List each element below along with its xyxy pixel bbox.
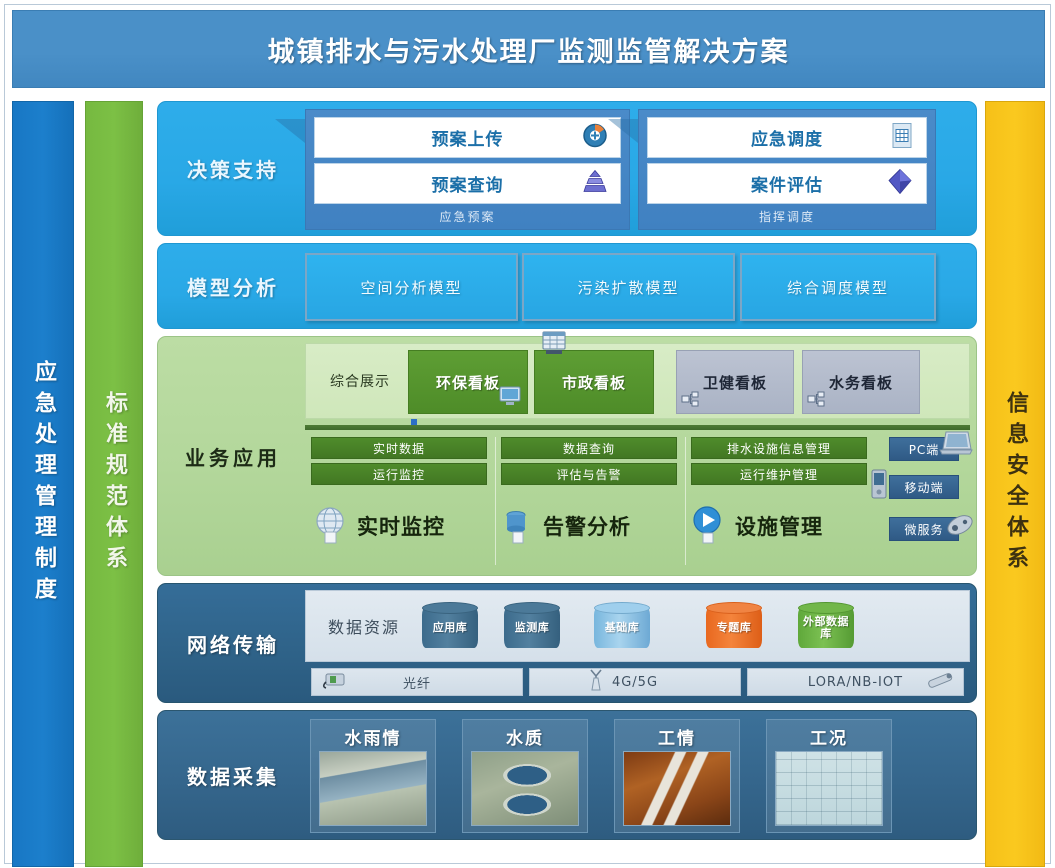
pyramid-icon [582, 169, 608, 198]
layer-label-model-analysis: 模型分析 [158, 244, 308, 328]
layer-data-acquisition: 数据采集 水雨情 水质 工情 工况 [157, 710, 977, 840]
database-top [706, 602, 762, 614]
client-chip-mobile[interactable]: 移动端 [889, 475, 959, 499]
page-title: 城镇排水与污水处理厂监测监管解决方案 [268, 30, 790, 69]
data-resource-label: 数据资源 [316, 591, 412, 661]
grid-table-icon [890, 122, 914, 153]
decision-group-command-dispatch: 应急调度 案件评估 [638, 109, 936, 230]
database-basic[interactable]: 基础库 [594, 600, 650, 654]
layer-decision-support: 决策支持 预案上传 [157, 101, 977, 236]
business-main-label: 告警分析 [543, 511, 631, 541]
model-box-dispatch[interactable]: 综合调度模型 [740, 253, 936, 321]
decision-group-caption: 指挥调度 [639, 206, 935, 226]
model-box-pollution[interactable]: 污染扩散模型 [522, 253, 735, 321]
diamond-icon [886, 168, 914, 199]
dashboard-row: 综合展示 环保看板 市政看板 [305, 343, 970, 419]
column-separator [495, 437, 496, 565]
layer-label-business-application: 业务应用 [158, 337, 308, 575]
device-icon [945, 511, 975, 543]
dashboard-row-label: 综合展示 [316, 344, 404, 418]
business-main-facility[interactable]: 设施管理 [691, 493, 867, 559]
dashboard-card-label: 水务看板 [829, 372, 893, 393]
globe-icon [311, 504, 351, 548]
acquisition-card-works[interactable]: 工情 [614, 719, 740, 833]
layer-business-application: 业务应用 综合展示 环保看板 [157, 336, 977, 576]
decision-group-caption: 应急预案 [306, 206, 629, 226]
window-icon [541, 331, 567, 359]
acquisition-card-label: 工情 [619, 723, 735, 749]
business-tag[interactable]: 数据查询 [501, 437, 677, 459]
fiber-icon [322, 670, 350, 694]
arrow-tail-right [608, 119, 638, 143]
diagram-frame: 城镇排水与污水处理厂监测监管解决方案 应急处理管理制度 标准规范体系 信息安全体… [4, 4, 1051, 864]
database-top [798, 602, 854, 614]
database-icon [501, 504, 537, 548]
decision-group-emergency-plan: 预案上传 预案查询 [305, 109, 630, 230]
diagram-title-bar: 城镇排水与污水处理厂监测监管解决方案 [12, 10, 1045, 88]
database-external[interactable]: 外部数据库 [798, 600, 854, 654]
network-pipe-fiber[interactable]: 光纤 [311, 668, 523, 696]
business-tag[interactable]: 评估与告警 [501, 463, 677, 485]
business-main-label: 实时监控 [357, 511, 445, 541]
data-resource-panel: 数据资源 应用库 监测库 基础库 专题库 外部数 [305, 590, 970, 662]
dashboard-card-label: 环保看板 [436, 372, 500, 393]
database-monitoring[interactable]: 监测库 [504, 600, 560, 654]
acquisition-card-condition[interactable]: 工况 [766, 719, 892, 833]
dashboard-card-label: 市政看板 [562, 372, 626, 393]
dashboard-card-municipal[interactable]: 市政看板 [534, 350, 654, 414]
business-column-realtime: 实时数据 运行监控 实时监控 [311, 437, 487, 565]
acquisition-card-label: 工况 [771, 723, 887, 749]
dashboard-card-environment[interactable]: 环保看板 [408, 350, 528, 414]
network-pipe-label: 4G/5G [612, 675, 658, 690]
acquisition-card-label: 水雨情 [315, 723, 431, 749]
pillar-standards-system: 标准规范体系 [85, 101, 143, 867]
database-thematic[interactable]: 专题库 [706, 600, 762, 654]
business-main-label: 设施管理 [735, 511, 823, 541]
business-column-alarm: 数据查询 评估与告警 告警分析 [501, 437, 677, 565]
network-pipe-cellular[interactable]: 4G/5G [529, 668, 741, 696]
network-pipe-lora[interactable]: LORA/NB-IOT [747, 668, 964, 696]
business-inner: 综合展示 环保看板 市政看板 [305, 343, 970, 569]
business-column-facility: 排水设施信息管理 运行维护管理 设施管理 [691, 437, 867, 565]
business-tag[interactable]: 运行监控 [311, 463, 487, 485]
pillar-information-security: 信息安全体系 [985, 101, 1045, 867]
database-application[interactable]: 应用库 [422, 600, 478, 654]
pipeline-trench-photo [623, 751, 731, 826]
divider-marker [411, 419, 417, 425]
upload-gauge-icon [582, 122, 608, 153]
decision-item-label: 案件评估 [751, 171, 823, 196]
scada-diagram-photo [775, 751, 883, 826]
decision-item-label: 预案上传 [432, 125, 504, 150]
layer-stack: 决策支持 预案上传 [157, 101, 977, 847]
pillar-emergency-management: 应急处理管理制度 [12, 101, 74, 867]
business-tag[interactable]: 排水设施信息管理 [691, 437, 867, 459]
acquisition-card-quality[interactable]: 水质 [462, 719, 588, 833]
decision-item-label: 预案查询 [432, 171, 504, 196]
play-circle-icon [691, 504, 729, 548]
model-box-spatial[interactable]: 空间分析模型 [305, 253, 518, 321]
layer-label-network-transmission: 网络传输 [158, 584, 308, 702]
business-main-realtime[interactable]: 实时监控 [311, 493, 487, 559]
phone-icon [869, 469, 889, 503]
client-column: PC端 移动端 [883, 433, 969, 565]
monitor-icon [499, 386, 521, 410]
dashboard-divider [305, 425, 970, 430]
business-tag[interactable]: 实时数据 [311, 437, 487, 459]
business-main-alarm[interactable]: 告警分析 [501, 493, 677, 559]
sensor-icon [925, 670, 955, 694]
laptop-icon [939, 429, 973, 461]
network-pipe-label: LORA/NB-IOT [808, 675, 903, 690]
acquisition-card-rainfall[interactable]: 水雨情 [310, 719, 436, 833]
acquisition-card-label: 水质 [467, 723, 583, 749]
business-tag[interactable]: 运行维护管理 [691, 463, 867, 485]
river-channel-photo [319, 751, 427, 826]
dashboard-card-label: 卫健看板 [703, 372, 767, 393]
decision-item-case-assessment[interactable]: 案件评估 [647, 163, 927, 204]
antenna-icon [586, 668, 606, 696]
layer-model-analysis: 模型分析 空间分析模型 污染扩散模型 综合调度模型 [157, 243, 977, 329]
dashboard-card-health[interactable]: 卫健看板 [676, 350, 794, 414]
column-separator [685, 437, 686, 565]
network-pipe-label: 光纤 [403, 673, 431, 692]
node-icon [807, 391, 825, 411]
decision-item-emergency-dispatch[interactable]: 应急调度 [647, 117, 927, 158]
node-icon [681, 391, 699, 411]
layer-label-decision-support: 决策支持 [158, 102, 308, 235]
decision-item-plan-upload[interactable]: 预案上传 [314, 117, 621, 158]
layer-label-data-acquisition: 数据采集 [158, 711, 308, 839]
dashboard-card-water[interactable]: 水务看板 [802, 350, 920, 414]
database-top [422, 602, 478, 614]
layer-network-transmission: 网络传输 数据资源 应用库 监测库 基础库 专题库 [157, 583, 977, 703]
database-top [594, 602, 650, 614]
decision-item-plan-query[interactable]: 预案查询 [314, 163, 621, 204]
treatment-pond-photo [471, 751, 579, 826]
decision-item-label: 应急调度 [751, 125, 823, 150]
database-top [504, 602, 560, 614]
